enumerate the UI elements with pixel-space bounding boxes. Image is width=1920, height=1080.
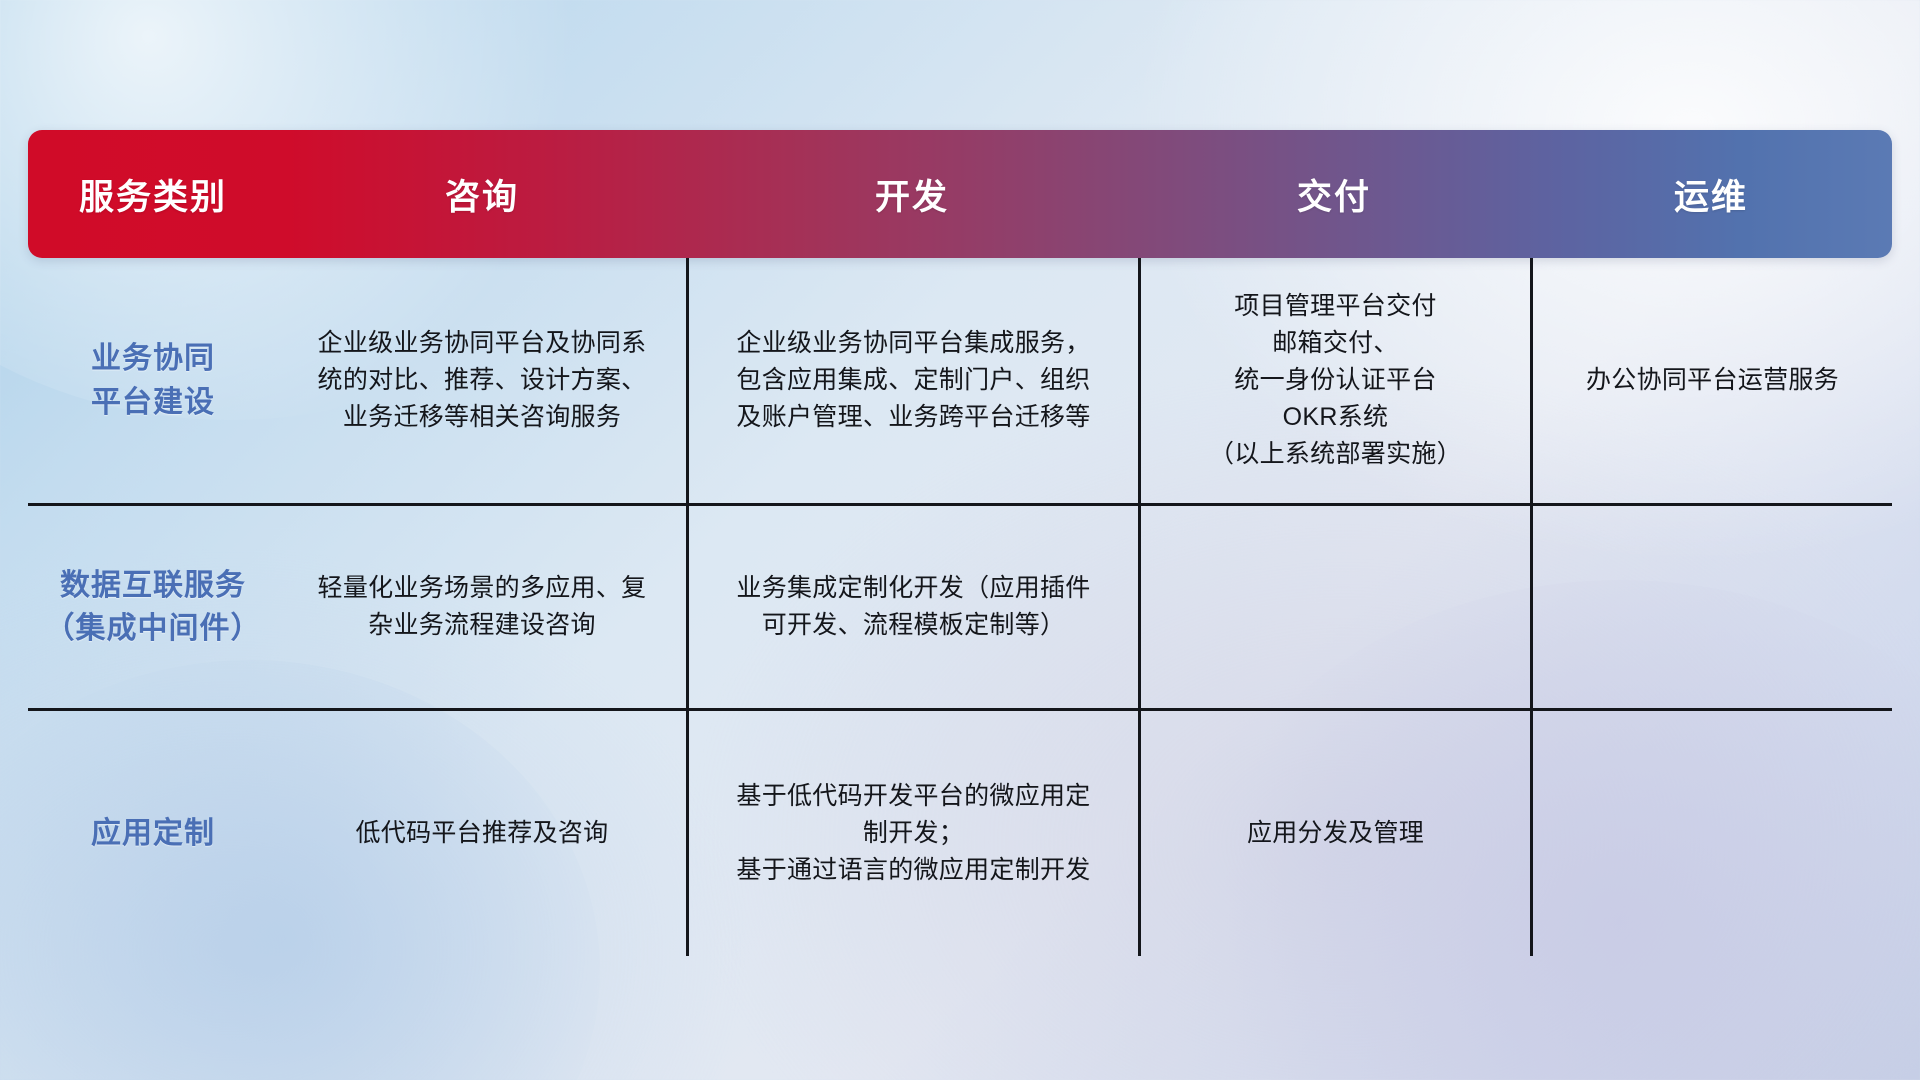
row-label-text: 业务协同平台建设 xyxy=(91,337,215,424)
column-header-delivery: 交付 xyxy=(1138,130,1530,258)
cell-operations: 办公协同平台运营服务 xyxy=(1530,258,1892,503)
cell-delivery: 应用分发及管理 xyxy=(1138,711,1530,956)
cell-consulting: 企业级业务协同平台及协同系统的对比、推荐、设计方案、业务迁移等相关咨询服务 xyxy=(278,258,686,503)
cell-text: 企业级业务协同平台及协同系统的对比、推荐、设计方案、业务迁移等相关咨询服务 xyxy=(318,325,647,436)
cell-text: 办公协同平台运营服务 xyxy=(1586,362,1839,399)
cell-category: 数据互联服务（集成中间件） xyxy=(28,506,278,708)
column-header-operations: 运维 xyxy=(1530,130,1892,258)
table-row: 数据互联服务（集成中间件） 轻量化业务场景的多应用、复杂业务流程建设咨询 业务集… xyxy=(28,503,1892,708)
column-header-consulting: 咨询 xyxy=(278,130,686,258)
cell-development: 基于低代码开发平台的微应用定制开发；基于通过语言的微应用定制开发 xyxy=(686,711,1138,956)
row-label-text: 应用定制 xyxy=(91,812,215,856)
cell-text: 基于低代码开发平台的微应用定制开发；基于通过语言的微应用定制开发 xyxy=(736,778,1090,889)
cell-consulting: 轻量化业务场景的多应用、复杂业务流程建设咨询 xyxy=(278,506,686,708)
table-body: 业务协同平台建设 企业级业务协同平台及协同系统的对比、推荐、设计方案、业务迁移等… xyxy=(28,258,1892,956)
cell-consulting: 低代码平台推荐及咨询 xyxy=(278,711,686,956)
column-header-development: 开发 xyxy=(686,130,1138,258)
row-label-text: 数据互联服务（集成中间件） xyxy=(45,564,262,651)
table-header-row: 服务类别 咨询 开发 交付 运维 xyxy=(28,130,1892,258)
cell-operations xyxy=(1530,711,1892,956)
cell-category: 业务协同平台建设 xyxy=(28,258,278,503)
service-matrix-table: 服务类别 咨询 开发 交付 运维 业务协同平台建设 企业级业务协同平台及协同系统… xyxy=(28,130,1892,960)
cell-development: 业务集成定制化开发（应用插件可开发、流程模板定制等） xyxy=(686,506,1138,708)
column-header-category: 服务类别 xyxy=(28,130,278,258)
table-row: 应用定制 低代码平台推荐及咨询 基于低代码开发平台的微应用定制开发；基于通过语言… xyxy=(28,708,1892,956)
cell-text: 低代码平台推荐及咨询 xyxy=(355,815,608,852)
cell-text: 轻量化业务场景的多应用、复杂业务流程建设咨询 xyxy=(318,570,647,644)
cell-operations xyxy=(1530,506,1892,708)
cell-text: 应用分发及管理 xyxy=(1247,815,1424,852)
cell-text: 企业级业务协同平台集成服务，包含应用集成、定制门户、组织及账户管理、业务跨平台迁… xyxy=(736,325,1090,436)
cell-text: 业务集成定制化开发（应用插件可开发、流程模板定制等） xyxy=(736,570,1090,644)
cell-delivery: 项目管理平台交付邮箱交付、统一身份认证平台OKR系统（以上系统部署实施） xyxy=(1138,258,1530,503)
cell-development: 企业级业务协同平台集成服务，包含应用集成、定制门户、组织及账户管理、业务跨平台迁… xyxy=(686,258,1138,503)
cell-category: 应用定制 xyxy=(28,711,278,956)
cell-text: 项目管理平台交付邮箱交付、统一身份认证平台OKR系统（以上系统部署实施） xyxy=(1209,288,1462,473)
table-row: 业务协同平台建设 企业级业务协同平台及协同系统的对比、推荐、设计方案、业务迁移等… xyxy=(28,258,1892,503)
cell-delivery xyxy=(1138,506,1530,708)
